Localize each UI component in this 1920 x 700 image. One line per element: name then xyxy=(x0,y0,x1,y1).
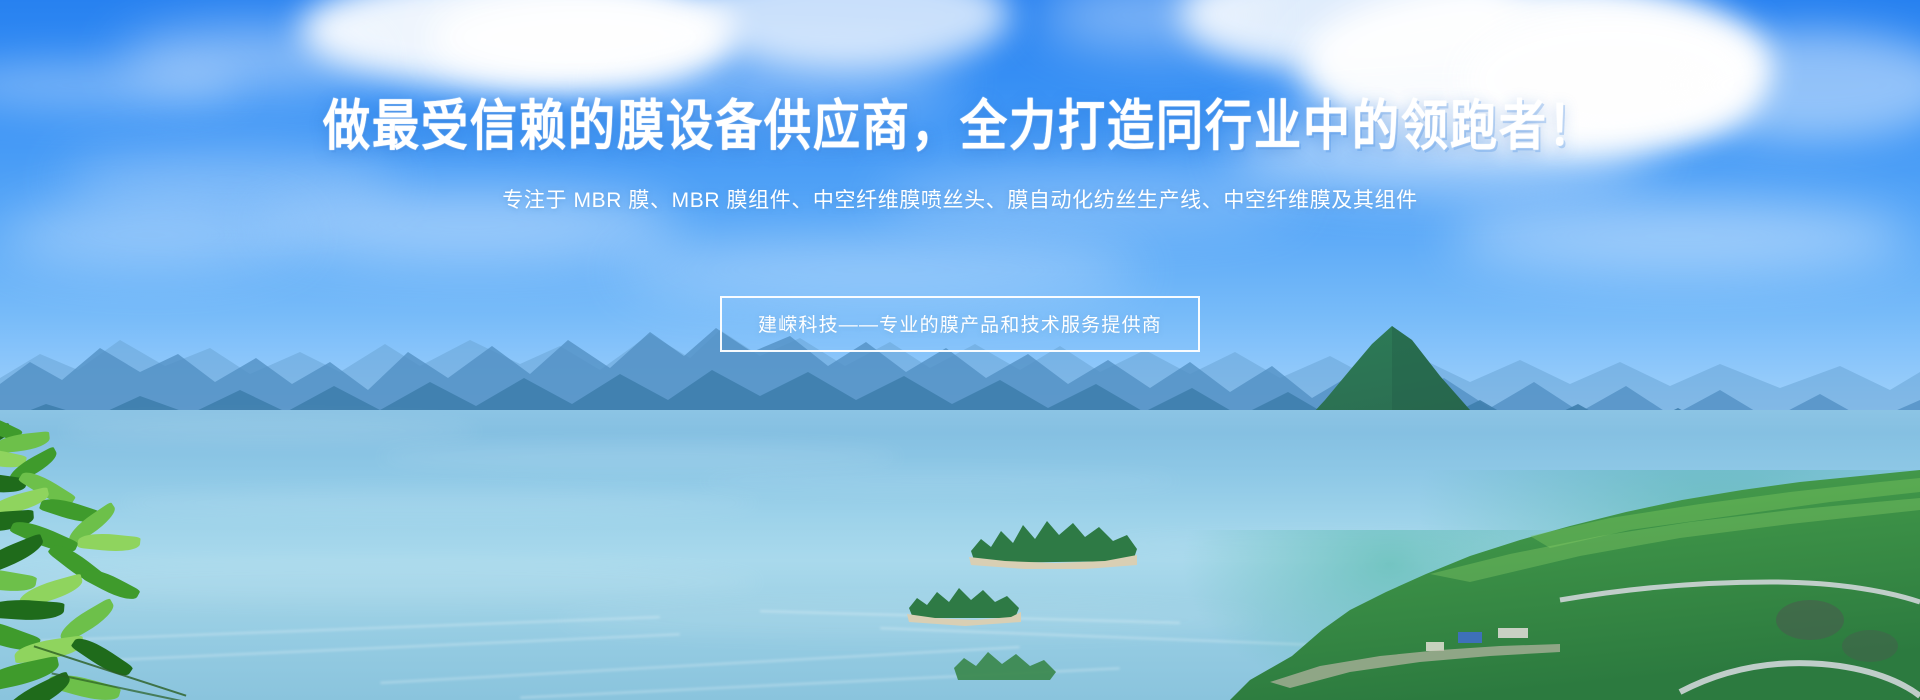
tagline-wrapper: 建嵘科技——专业的膜产品和技术服务提供商 xyxy=(0,296,1920,352)
hero-banner: 做最受信赖的膜设备供应商，全力打造同行业中的领跑者！ 专注于 MBR 膜、MBR… xyxy=(0,0,1920,700)
island-small xyxy=(905,578,1025,626)
island-large xyxy=(965,505,1140,577)
foreground-tree-branch xyxy=(0,420,260,700)
shore-island-left xyxy=(950,640,1060,686)
banner-subheadline: 专注于 MBR 膜、MBR 膜组件、中空纤维膜喷丝头、膜自动化纺丝生产线、中空纤… xyxy=(0,184,1920,214)
right-peninsula xyxy=(1230,470,1920,700)
tagline-box: 建嵘科技——专业的膜产品和技术服务提供商 xyxy=(720,296,1200,352)
banner-headline: 做最受信赖的膜设备供应商，全力打造同行业中的领跑者！ xyxy=(0,96,1920,157)
